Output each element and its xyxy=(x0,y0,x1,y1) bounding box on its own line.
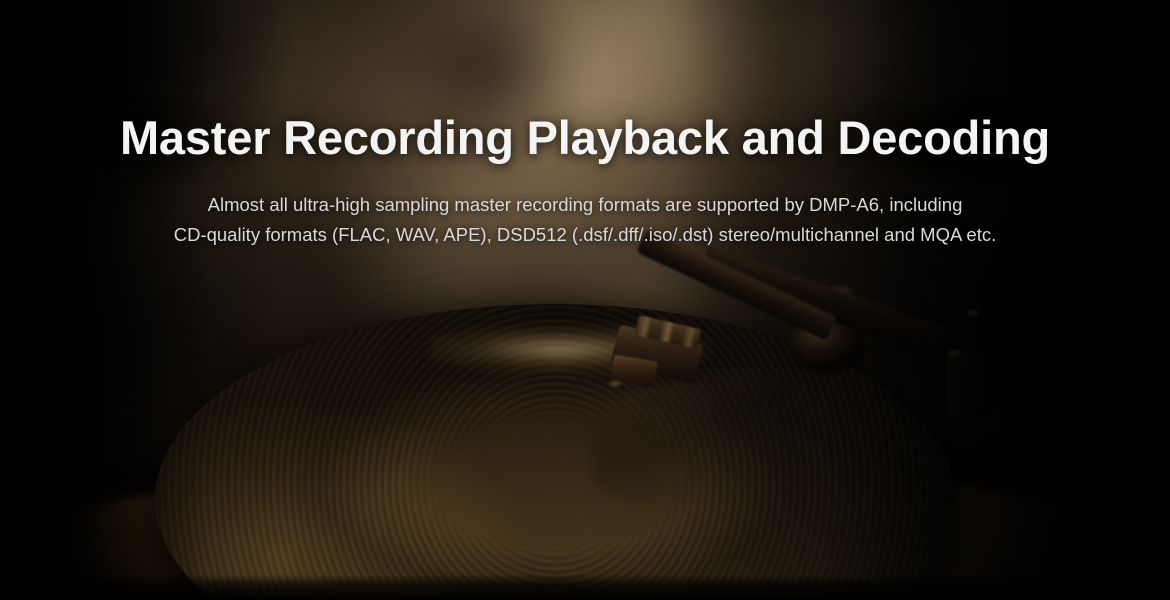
tonearm-rest-base-glint xyxy=(948,350,960,355)
turntable-photo xyxy=(0,260,1170,600)
tonearm-reflection xyxy=(584,369,815,511)
tonearm-headshell xyxy=(610,324,703,384)
tonearm-pivot xyxy=(790,316,864,372)
hero-subtitle: Almost all ultra-high sampling master re… xyxy=(0,165,1170,250)
hero-subtitle-line-1: Almost all ultra-high sampling master re… xyxy=(0,190,1170,220)
hero-subtitle-line-2: CD-quality formats (FLAC, WAV, APE), DSD… xyxy=(0,220,1170,250)
tonearm-rest-shadow xyxy=(930,400,1060,460)
hero-banner: Master Recording Playback and Decoding A… xyxy=(0,0,1170,600)
groove-highlight-top xyxy=(430,322,760,376)
page-title: Master Recording Playback and Decoding xyxy=(0,0,1170,165)
vinyl-record xyxy=(155,304,955,600)
platter-edge xyxy=(0,472,1170,600)
tonearm-pivot-top xyxy=(803,286,854,327)
stylus-contact-glint xyxy=(606,380,624,387)
bottom-black-strip xyxy=(0,574,1170,600)
tonearm xyxy=(698,245,945,357)
vinyl-grooves xyxy=(155,304,955,600)
tonearm-cartridge xyxy=(610,354,658,387)
groove-highlight-left xyxy=(160,590,480,600)
hero-copy: Master Recording Playback and Decoding A… xyxy=(0,0,1170,250)
tonearm-rest-base xyxy=(946,352,990,418)
platter-edge-shadow xyxy=(0,456,1170,496)
headshell-fins xyxy=(635,315,702,349)
tonearm-rest-post xyxy=(968,312,984,388)
tonearm-rest-glint xyxy=(968,310,978,316)
